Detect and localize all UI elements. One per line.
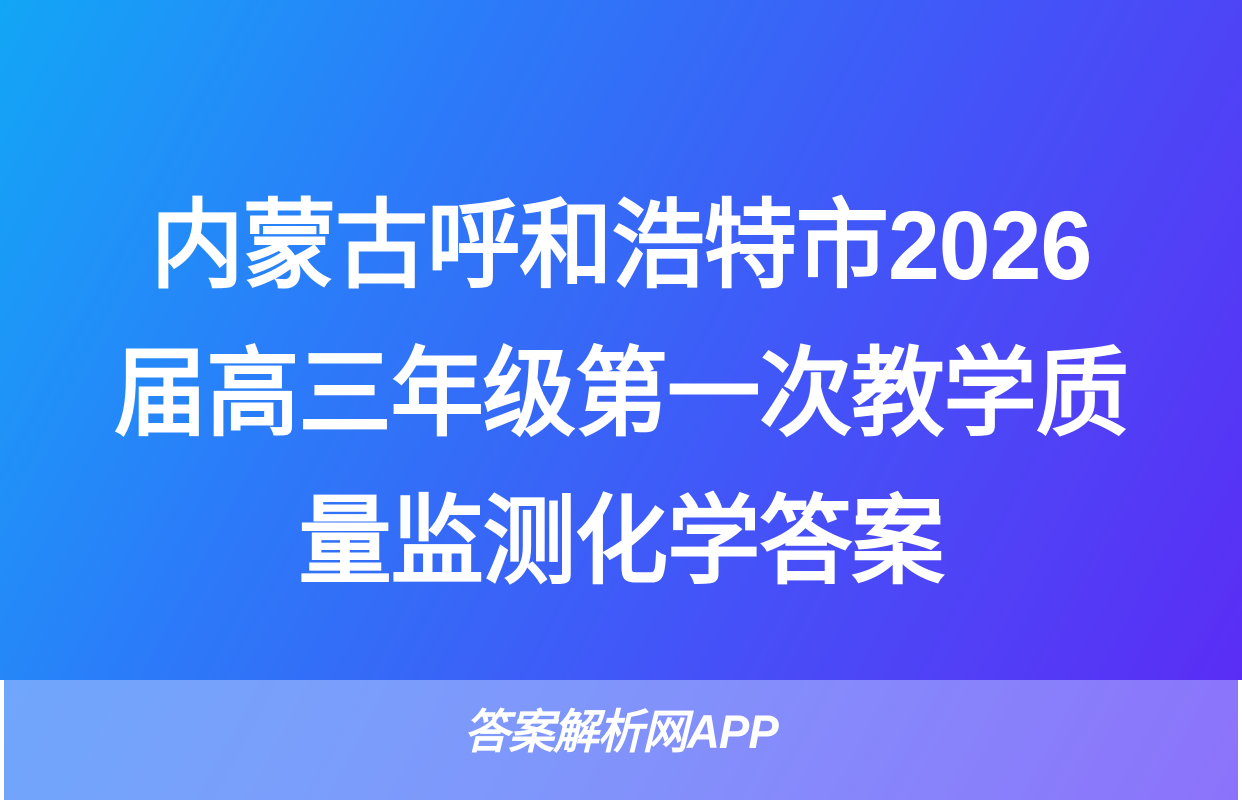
poster-canvas: 内蒙古呼和浩特市2026 届高三年级第一次教学质 量监测化学答案 答案解析网AP… <box>0 0 1242 800</box>
footer-watermark: 答案解析网APP <box>0 703 1242 761</box>
footer-watermark-label: 答案解析网APP <box>464 703 778 761</box>
title-line-3: 量监测化学答案 <box>25 468 1217 616</box>
title-line-1: 内蒙古呼和浩特市2026 <box>25 172 1217 320</box>
page-title: 内蒙古呼和浩特市2026 届高三年级第一次教学质 量监测化学答案 <box>0 172 1242 616</box>
title-line-2: 届高三年级第一次教学质 <box>25 320 1217 468</box>
